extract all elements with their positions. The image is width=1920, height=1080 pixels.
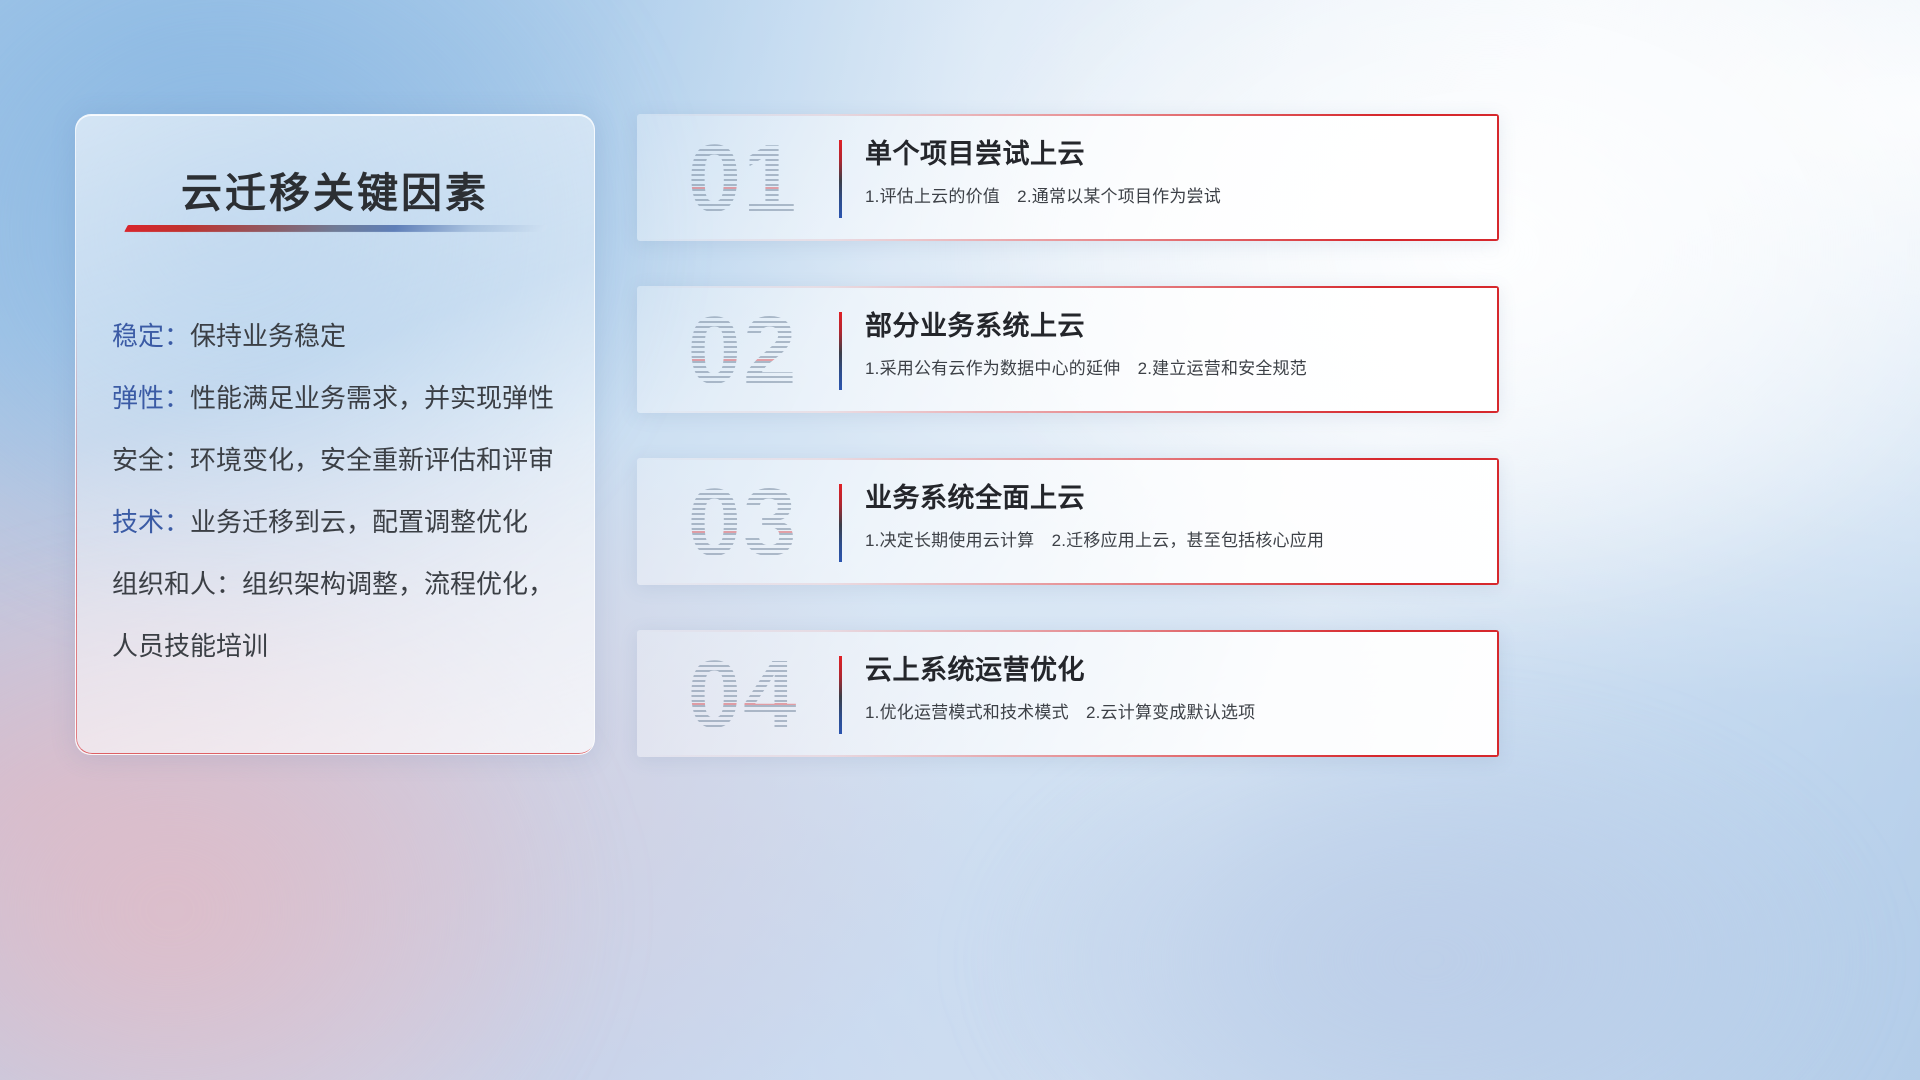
card-right-accent xyxy=(1497,630,1499,757)
factor-text: 性能满足业务需求，并实现弹性 xyxy=(190,383,554,413)
card-title: 业务系统全面上云 xyxy=(865,480,1475,516)
card-body: 业务系统全面上云1.决定长期使用云计算 2.迁移应用上云，甚至包括核心应用 xyxy=(865,480,1475,553)
factor-row: 安全：环境变化，安全重新评估和评审 xyxy=(112,429,568,491)
card-bottom-accent xyxy=(637,755,1499,757)
stage-number-glyph: 03 xyxy=(663,468,823,578)
factor-text: 组织架构调整，流程优化， xyxy=(242,569,554,599)
factor-text: 业务迁移到云，配置调整优化 xyxy=(190,507,528,537)
card-right-accent xyxy=(1497,286,1499,413)
panel-title: 云迁移关键因素 xyxy=(76,159,594,219)
stage-number-glyph: 02 xyxy=(663,296,823,406)
card-top-accent xyxy=(637,630,1499,632)
card-title: 云上系统运营优化 xyxy=(865,652,1475,688)
factor-list: 稳定：保持业务稳定弹性：性能满足业务需求，并实现弹性安全：环境变化，安全重新评估… xyxy=(112,305,568,677)
card-divider-accent xyxy=(839,484,842,562)
card-divider-accent xyxy=(839,140,842,218)
card-subtitle: 1.优化运营模式和技术模式 2.云计算变成默认选项 xyxy=(865,701,1475,725)
card-bottom-accent xyxy=(637,583,1499,585)
title-underline-accent xyxy=(124,225,548,232)
card-bottom-accent xyxy=(637,411,1499,413)
card-right-accent xyxy=(1497,458,1499,585)
card-subtitle: 1.决定长期使用云计算 2.迁移应用上云，甚至包括核心应用 xyxy=(865,529,1475,553)
factor-row: 人员技能培训 xyxy=(112,615,568,677)
stage-number-glyph: 04 xyxy=(663,640,823,750)
factor-row: 组织和人：组织架构调整，流程优化， xyxy=(112,553,568,615)
card-top-accent xyxy=(637,286,1499,288)
card-subtitle: 1.评估上云的价值 2.通常以某个项目作为尝试 xyxy=(865,185,1475,209)
factor-row: 技术：业务迁移到云，配置调整优化 xyxy=(112,491,568,553)
factor-label: 技术： xyxy=(112,507,190,537)
stage-card[interactable]: 0303业务系统全面上云1.决定长期使用云计算 2.迁移应用上云，甚至包括核心应… xyxy=(637,458,1499,585)
stage-number-glyph: 01 xyxy=(663,124,823,234)
factor-label: 组织和人： xyxy=(112,569,242,599)
card-top-accent xyxy=(637,114,1499,116)
card-subtitle: 1.采用公有云作为数据中心的延伸 2.建立运营和安全规范 xyxy=(865,357,1475,381)
factor-label: 安全： xyxy=(112,445,190,475)
stage-card[interactable]: 0202部分业务系统上云1.采用公有云作为数据中心的延伸 2.建立运营和安全规范 xyxy=(637,286,1499,413)
factor-row: 弹性：性能满足业务需求，并实现弹性 xyxy=(112,367,568,429)
card-body: 云上系统运营优化1.优化运营模式和技术模式 2.云计算变成默认选项 xyxy=(865,652,1475,725)
factor-label: 稳定： xyxy=(112,321,190,351)
key-factors-panel: 云迁移关键因素 稳定：保持业务稳定弹性：性能满足业务需求，并实现弹性安全：环境变… xyxy=(75,114,595,755)
stage-card-list: 0101单个项目尝试上云1.评估上云的价值 2.通常以某个项目作为尝试0202部… xyxy=(637,114,1499,802)
card-title: 部分业务系统上云 xyxy=(865,308,1475,344)
factor-text: 环境变化，安全重新评估和评审 xyxy=(190,445,554,475)
factor-text: 人员技能培训 xyxy=(112,631,268,661)
card-divider-accent xyxy=(839,312,842,390)
card-body: 单个项目尝试上云1.评估上云的价值 2.通常以某个项目作为尝试 xyxy=(865,136,1475,209)
stage-card[interactable]: 0101单个项目尝试上云1.评估上云的价值 2.通常以某个项目作为尝试 xyxy=(637,114,1499,241)
card-top-accent xyxy=(637,458,1499,460)
card-title: 单个项目尝试上云 xyxy=(865,136,1475,172)
card-body: 部分业务系统上云1.采用公有云作为数据中心的延伸 2.建立运营和安全规范 xyxy=(865,308,1475,381)
factor-text: 保持业务稳定 xyxy=(190,321,346,351)
card-right-accent xyxy=(1497,114,1499,241)
stage-card[interactable]: 0404云上系统运营优化1.优化运营模式和技术模式 2.云计算变成默认选项 xyxy=(637,630,1499,757)
slide-canvas: 云迁移关键因素 稳定：保持业务稳定弹性：性能满足业务需求，并实现弹性安全：环境变… xyxy=(0,0,1920,1080)
card-divider-accent xyxy=(839,656,842,734)
factor-row: 稳定：保持业务稳定 xyxy=(112,305,568,367)
card-bottom-accent xyxy=(637,239,1499,241)
factor-label: 弹性： xyxy=(112,383,190,413)
